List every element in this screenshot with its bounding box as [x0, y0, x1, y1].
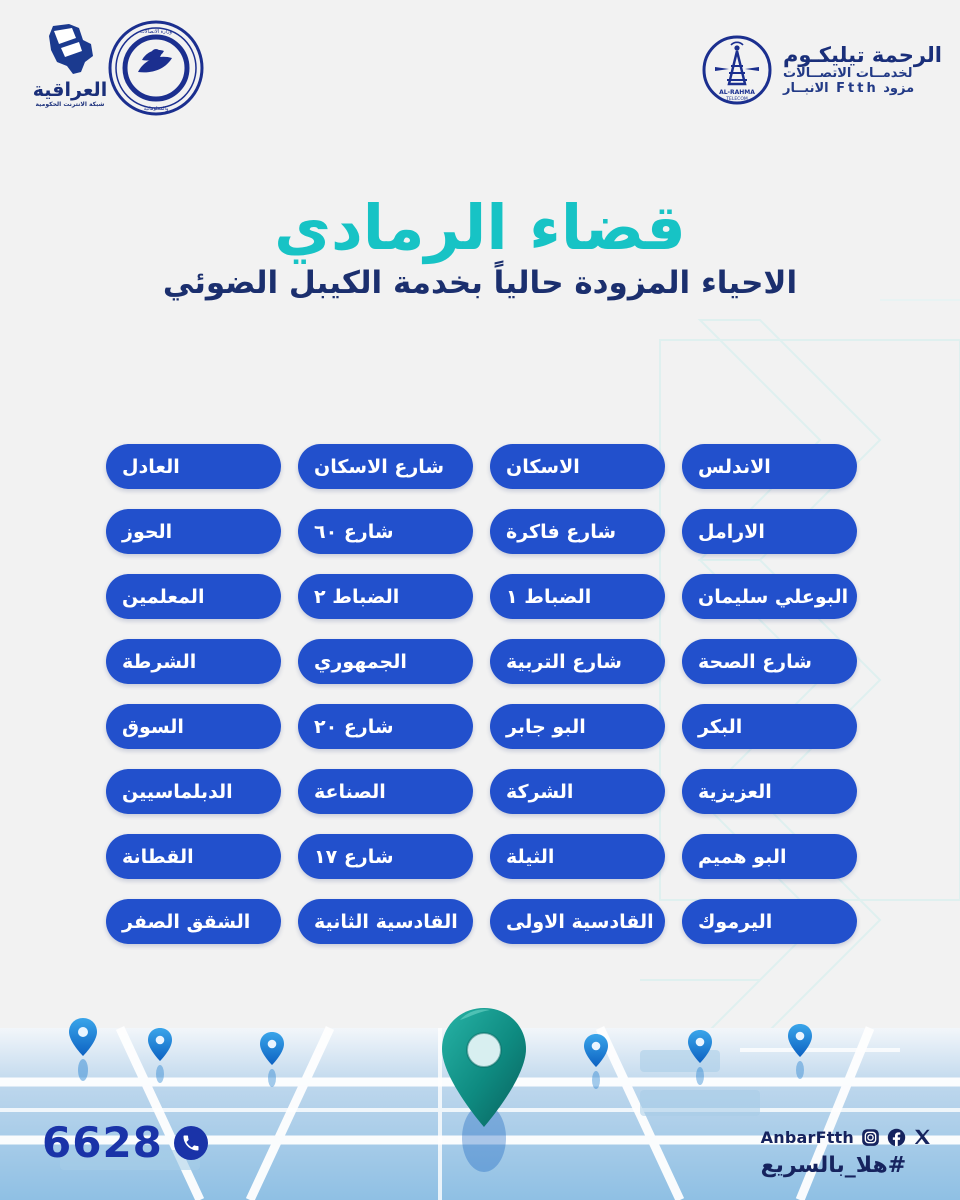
hashtag: #هلا_بالسريع — [761, 1153, 907, 1178]
neighborhood-pill[interactable]: الشرطة — [106, 639, 281, 684]
phone-number: 6628 — [42, 1122, 163, 1164]
neighborhood-pill[interactable]: الدبلماسيين — [106, 769, 281, 814]
neighborhood-pill[interactable]: شارع ٢٠ — [298, 704, 473, 749]
neighborhood-pill[interactable]: المعلمين — [106, 574, 281, 619]
neighborhood-pill[interactable]: شارع الاسكان — [298, 444, 473, 489]
al-rahma-telecom-badge-icon: AL-RAHMA TELECOM — [701, 34, 773, 106]
iraq-map-icon — [39, 18, 101, 80]
neighborhood-pill[interactable]: البو هميم — [682, 834, 857, 879]
phone-icon — [174, 1126, 208, 1160]
gov-logo: العراقية شبكة الانترنت الحكومية — [20, 18, 120, 118]
instagram-icon[interactable] — [861, 1128, 880, 1147]
neighborhood-pill[interactable]: شارع ٦٠ — [298, 509, 473, 554]
ministry-seal-icon: وزارة الاتصالات والمعلوماتية — [108, 20, 204, 116]
neighborhood-pill[interactable]: البوعلي سليمان — [682, 574, 857, 619]
neighborhood-pill[interactable]: شارع فاكرة — [490, 509, 665, 554]
neighborhood-pill[interactable]: الضباط ٢ — [298, 574, 473, 619]
neighborhood-grid: الاندلسالاسكانشارع الاسكانالعادلالاراملش… — [103, 444, 857, 944]
gov-logo-name: العراقية — [33, 81, 107, 100]
badge-caption-line2: TELECOM — [725, 96, 748, 102]
infographic-page: العراقية شبكة الانترنت الحكومية وزارة ال… — [0, 0, 960, 1200]
social-block: AnbarFtth #هلا_بالسريع — [761, 1128, 932, 1178]
brand-text: الرحمة تيليكـوم لخدمــات الاتصــالات مزو… — [783, 43, 942, 97]
page-subtitle: الاحياء المزودة حالياً بخدمة الكيبل الضو… — [0, 266, 960, 302]
neighborhood-pill[interactable]: الثيلة — [490, 834, 665, 879]
neighborhood-pill[interactable]: الارامل — [682, 509, 857, 554]
neighborhood-pill[interactable]: القطانة — [106, 834, 281, 879]
neighborhood-pill[interactable]: الضباط ١ — [490, 574, 665, 619]
brand-line-1: الرحمة تيليكـوم — [783, 43, 942, 67]
neighborhood-pill[interactable]: العزيزية — [682, 769, 857, 814]
social-handle: AnbarFtth — [761, 1128, 854, 1147]
x-icon[interactable] — [913, 1128, 932, 1147]
neighborhood-pill[interactable]: اليرموك — [682, 899, 857, 944]
brand-line-2: لخدمــات الاتصــالات — [783, 67, 913, 82]
svg-text:وزارة الاتصالات: وزارة الاتصالات — [140, 29, 172, 35]
badge-caption-line1: AL-RAHMA — [719, 89, 755, 96]
title-block: قضاء الرمادي الاحياء المزودة حالياً بخدم… — [0, 195, 960, 302]
brand-line-3: مزود Ftth الانبــار — [783, 82, 914, 97]
gov-logo-subtitle: شبكة الانترنت الحكومية — [36, 102, 105, 108]
neighborhood-pill[interactable]: السوق — [106, 704, 281, 749]
facebook-icon[interactable] — [887, 1128, 906, 1147]
neighborhood-pill[interactable]: شارع التربية — [490, 639, 665, 684]
header: العراقية شبكة الانترنت الحكومية وزارة ال… — [0, 0, 960, 140]
neighborhood-pill[interactable]: القادسية الاولى — [490, 899, 665, 944]
neighborhood-pill[interactable]: شارع ١٧ — [298, 834, 473, 879]
svg-text:والمعلوماتية: والمعلوماتية — [144, 106, 169, 112]
neighborhood-pill[interactable]: القادسية الثانية — [298, 899, 473, 944]
neighborhood-pill[interactable]: الاندلس — [682, 444, 857, 489]
footer-map-banner: 6628 AnbarFtth #هلا_بالسريع — [0, 990, 960, 1200]
neighborhood-pill[interactable]: شارع الصحة — [682, 639, 857, 684]
neighborhood-pill[interactable]: الشقق الصفر — [106, 899, 281, 944]
neighborhood-pill[interactable]: العادل — [106, 444, 281, 489]
phone-contact[interactable]: 6628 — [42, 1122, 208, 1164]
neighborhood-pill[interactable]: الاسكان — [490, 444, 665, 489]
neighborhood-pill[interactable]: الشركة — [490, 769, 665, 814]
brand-lockup: الرحمة تيليكـوم لخدمــات الاتصــالات مزو… — [701, 22, 942, 118]
social-row: AnbarFtth — [761, 1128, 932, 1147]
neighborhood-pill[interactable]: البكر — [682, 704, 857, 749]
neighborhood-pill[interactable]: الجمهوري — [298, 639, 473, 684]
neighborhood-pill[interactable]: الصناعة — [298, 769, 473, 814]
page-title: قضاء الرمادي — [0, 195, 960, 260]
neighborhood-pill[interactable]: الحوز — [106, 509, 281, 554]
neighborhood-pill[interactable]: البو جابر — [490, 704, 665, 749]
